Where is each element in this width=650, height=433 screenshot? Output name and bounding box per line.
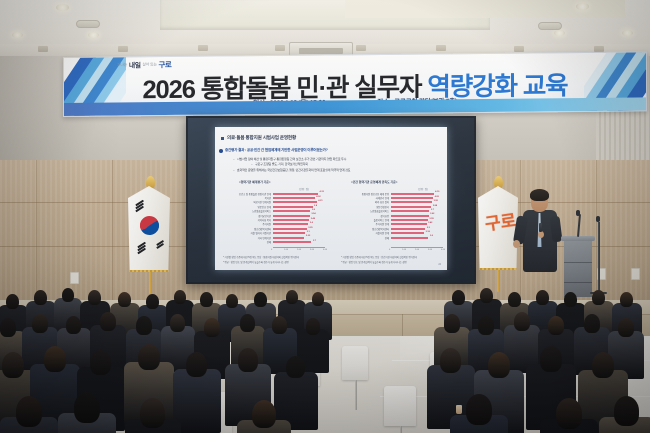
- bar-value: 3.25: [308, 227, 312, 229]
- slide-page-number: 24: [438, 263, 441, 266]
- bar-row: 장기요양3.62: [391, 214, 443, 217]
- bar-label: 주거지원 연계: [376, 222, 389, 226]
- panel-right-unit: (단위 : 점): [418, 187, 428, 191]
- bar-row: 자활·일자리 지원기관3.1: [273, 232, 325, 235]
- slide-bullet: 효과적인 운영을 위해서는 국민건강보험공단, 행정, 민간기관들과의 연계 포…: [237, 168, 350, 172]
- slide-bullet: 구로구 조정팀 별도, 기획, 한국보거산적립자회: [255, 162, 308, 166]
- axis-tick: 3.00: [428, 249, 432, 251]
- mic-stand-head: [596, 216, 600, 222]
- auditorium-photo: 기나는 내일 살아 있는 구로 2026 통합돌봄 민·관 실무자 역량강화 교…: [0, 0, 650, 433]
- bar-row: 사례관리 연계4.05: [391, 196, 443, 199]
- bar-value: 3.95: [434, 200, 438, 202]
- ceiling-downlight: [554, 30, 565, 36]
- bar-row: 기타 연계기관3.02: [273, 236, 325, 239]
- audience-hair: [466, 394, 492, 425]
- audience-hair: [272, 316, 287, 334]
- bar-label: 보건소 및 통합돌봄 행정기관 연계: [239, 192, 271, 196]
- audience-hair: [138, 344, 160, 370]
- bar-row: 의료기관 연계지원4.21: [273, 201, 325, 204]
- audience-hair: [34, 290, 47, 305]
- audience-hair: [74, 392, 100, 423]
- ceiling-spot: [275, 45, 285, 51]
- bar-value: 3.02: [306, 235, 310, 237]
- bar-value: 3.7: [431, 209, 434, 211]
- audience-hair: [252, 400, 276, 428]
- bar-label: 정신건강복지센터: [372, 227, 389, 231]
- bar-value: 3.18: [426, 231, 430, 233]
- logo-text-pre2: 살아 있는: [142, 62, 156, 68]
- bar-fill: [273, 193, 318, 195]
- bar-value: 3.1: [307, 231, 310, 233]
- audience-hair: [536, 290, 549, 305]
- bar-fill: [391, 215, 429, 217]
- coffee-cup: [456, 405, 462, 414]
- audience-hair: [488, 352, 510, 378]
- bar-label: 정신건강복지센터: [254, 227, 271, 231]
- bar-row: 의뢰·회송 절차3.95: [391, 201, 443, 204]
- audience-hair: [478, 316, 494, 335]
- bar-value: 4.05: [435, 196, 439, 198]
- ceiling: [0, 0, 650, 56]
- stage-seam: [402, 314, 403, 336]
- bar-value: 3.62: [430, 213, 434, 215]
- bar-value: 3.7: [313, 240, 316, 242]
- bar-fill: [273, 228, 307, 230]
- bar-label: 돌봄서비스 연계: [374, 218, 389, 222]
- audience-hair: [16, 396, 42, 427]
- bar-row: 노인맞춤돌봄서비스3.6: [273, 210, 325, 213]
- audience-hair: [508, 292, 521, 307]
- bar-fill: [391, 201, 432, 203]
- gooseneck-mic-head: [576, 210, 580, 216]
- panel-left-footnote: * 평균 : 협업 빈도 및 연계실적이 높을수록 점수가 높게 나타나는 경향: [223, 260, 289, 264]
- bar-fill: [391, 228, 425, 230]
- presentation-slide: 의료·돌봄 통합지원 시범사업 운영현황 중간평가 결과 : 공공·민간 간 협…: [215, 127, 447, 270]
- bar-fill: [391, 210, 429, 212]
- bar-label: 전체: [385, 236, 389, 240]
- bar-value: 3.6: [430, 235, 433, 237]
- bar-fill: [273, 237, 304, 239]
- audience-hair: [240, 314, 255, 332]
- lectern-seam: [564, 262, 592, 263]
- audience-hair: [118, 292, 131, 307]
- audience-hair: [306, 318, 320, 335]
- audience-hair: [6, 294, 19, 309]
- audience-hair: [88, 290, 101, 305]
- bar-label: 노인맞춤돌봄서비스: [370, 209, 389, 213]
- bar-row: 주거지원3.4: [273, 223, 325, 226]
- chair-leg: [400, 426, 402, 433]
- bar-row: 자활지원 연계3.18: [391, 232, 443, 235]
- bar-label: 장기요양: [381, 214, 389, 218]
- wood-seam: [112, 160, 113, 300]
- audience-hair: [186, 352, 207, 377]
- bar-value: 4.10: [435, 191, 439, 193]
- bar-fill: [391, 237, 428, 239]
- chair: [342, 346, 368, 380]
- audience-hair: [44, 346, 66, 372]
- event-banner: 기나는 내일 살아 있는 구로 2026 통합돌봄 민·관 실무자 역량강화 교…: [63, 51, 647, 117]
- audience-hair: [170, 314, 185, 332]
- bar-fill: [273, 210, 310, 212]
- panel-left-footnote: * 기관별 협업 수준에 대한 5점 척도 응답 : 통합지원 대상자의 실질적…: [223, 255, 299, 259]
- bar-value: 3.88: [433, 205, 437, 207]
- bar-row: 방문간호 연계3.8: [273, 205, 325, 208]
- bar-label: 사례관리 연계: [376, 196, 389, 200]
- bar-value: 3.8: [314, 205, 317, 207]
- bar-value: 3.42: [428, 222, 432, 224]
- audience-hair: [238, 348, 258, 372]
- bar-row: 전체3.6: [391, 236, 443, 239]
- axis-tick: 1.00: [284, 249, 288, 251]
- bar-fill: [391, 223, 427, 225]
- audience-hair: [146, 294, 159, 309]
- axis-tick: 2.00: [415, 249, 419, 251]
- axis-tick: 4.00: [441, 249, 445, 251]
- audience-hair: [174, 290, 186, 304]
- bar-value: 4.21: [318, 200, 322, 202]
- audience-hair: [286, 356, 305, 378]
- axis-tick: 1.00: [402, 249, 406, 251]
- bar-row: 주거지원 연계3.42: [391, 223, 443, 226]
- audience-hair: [452, 290, 465, 305]
- bar-label: 기타 연계기관: [258, 236, 271, 240]
- bar-label: 자활지원 연계: [376, 231, 389, 235]
- ceiling-downlight: [622, 30, 633, 36]
- audience-hair: [564, 292, 577, 307]
- bar-fill: [391, 197, 433, 199]
- chair-leg: [355, 380, 357, 410]
- bar-row: 지역사회 복지3.48: [273, 218, 325, 221]
- flag-cloth: [128, 186, 170, 272]
- axis-tick: 2.00: [297, 249, 301, 251]
- bar-label: 자활·일자리 지원기관: [251, 231, 271, 235]
- panel-left-caption: <협력기관 체계평가 기준>: [239, 180, 271, 184]
- bar-label: 통합지원 정보공유 체계 운영: [362, 192, 389, 196]
- presenter-hand-right: [538, 231, 544, 238]
- handheld-microphone: [539, 223, 542, 232]
- bar-row: 정신건강복지센터3.25: [273, 227, 325, 230]
- audience-hair: [90, 350, 111, 375]
- bar-value: 3.6: [312, 209, 315, 211]
- bar-row: 정신건강복지센터3.3: [391, 227, 443, 230]
- panel-right-footnote: * 기관별 협업 수준에 대한 5점 척도 응답 : 민간기관 대상자의 실질적…: [341, 255, 417, 259]
- logo-text-pre1: 기나는: [117, 62, 127, 68]
- bar-label: 복지관: [265, 196, 271, 200]
- slide-bullet: 시범사업 참여 예산 및 통합지원구·통합판정팀 간의 보건소·추가 관련 기관…: [237, 157, 346, 161]
- bar-label: 노인맞춤돌봄서비스: [252, 209, 271, 213]
- bar-value: 4.02: [316, 196, 320, 198]
- audience-hair: [312, 292, 324, 306]
- bar-fill: [391, 193, 434, 195]
- audience-hair: [440, 348, 461, 373]
- ceiling-vent: [538, 22, 562, 30]
- audience-hair: [200, 292, 213, 307]
- audience-hair: [614, 396, 639, 426]
- panel-right-axis: [391, 247, 443, 248]
- presenter-hand-left: [513, 240, 520, 248]
- bar-fill: [273, 201, 317, 203]
- audience-hair: [204, 318, 220, 337]
- panel-right-footnote: * 평균 : 협업 빈도 및 연계실적이 높을수록 점수가 높게 나타나는 경향: [341, 260, 407, 264]
- audience-hair: [2, 352, 24, 378]
- audience-hair: [100, 312, 116, 331]
- axis-tick: 4.00: [323, 249, 327, 251]
- audience-hair: [556, 398, 582, 429]
- bar-row: 복지관4.02: [273, 196, 325, 199]
- bar-row: 노인맞춤돌봄서비스3.7: [391, 210, 443, 213]
- bar-fill: [273, 197, 315, 199]
- wall-outlet: [70, 272, 79, 284]
- audience-hair: [592, 290, 605, 305]
- wall-outlet: [631, 268, 640, 280]
- bar-label: 지역사회 복지: [258, 218, 271, 222]
- ceiling-coffer: [160, 0, 490, 30]
- axis-tick: 3.00: [310, 249, 314, 251]
- audience-hair: [480, 288, 493, 303]
- presenter-hair: [530, 189, 549, 201]
- lectern-body: [564, 241, 592, 297]
- audience-hair: [0, 318, 16, 337]
- audience-hair: [620, 292, 633, 307]
- bar-row: 통합지원 정보공유 체계 운영4.10: [391, 192, 443, 195]
- ceiling-spot: [514, 46, 524, 52]
- wood-seam: [36, 160, 37, 300]
- bar-row: 돌봄서비스 연계3.55: [391, 218, 443, 221]
- bar-row: 보건소 및 통합돌봄 행정기관 연계4.33: [273, 192, 325, 195]
- ceiling-downlight: [12, 32, 23, 38]
- audience-hair: [584, 314, 600, 333]
- bar-label: 장기요양기관: [258, 214, 271, 218]
- audience-hair: [254, 292, 267, 307]
- audience-hair: [136, 316, 152, 335]
- bar-fill: [391, 206, 431, 208]
- bar-fill: [273, 219, 309, 221]
- panel-left-unit: (단위 : 점): [299, 187, 309, 191]
- lectern-seam: [564, 282, 592, 283]
- bar-row: 방문건강관리3.88: [391, 205, 443, 208]
- bar-label: 방문건강관리: [376, 205, 389, 209]
- ceiling-spot: [38, 46, 48, 52]
- bar-fill: [273, 206, 313, 208]
- bar-fill: [273, 223, 308, 225]
- bar-label: 전체: [267, 240, 271, 244]
- audience-hair: [514, 312, 530, 331]
- projection-screen: 의료·돌봄 통합지원 시범사업 운영현황 중간평가 결과 : 공공·민간 간 협…: [186, 116, 476, 284]
- audience-hair: [618, 318, 634, 337]
- bar-value: 3.55: [429, 218, 433, 220]
- ceiling-spot: [198, 45, 208, 51]
- audience-hair: [540, 346, 562, 372]
- audience-hair: [548, 316, 564, 335]
- audience-hair: [66, 316, 81, 334]
- bar-row: 장기요양기관3.54: [273, 214, 325, 217]
- taeguk-symbol: [136, 212, 162, 238]
- audience-hair: [32, 314, 48, 333]
- ceiling-spot: [436, 45, 446, 51]
- audience-hair: [592, 352, 614, 378]
- bar-label: 주거지원: [263, 222, 271, 226]
- bar-label: 방문간호 연계: [258, 205, 271, 209]
- bar-value: 3.54: [311, 213, 315, 215]
- audience-hair: [62, 288, 74, 302]
- bar-row: 전체3.7: [273, 240, 325, 243]
- mic-stand-pole: [598, 222, 600, 294]
- bar-value: 3.48: [311, 218, 315, 220]
- bar-fill: [273, 215, 310, 217]
- guro-emblem: 구로: [484, 212, 517, 233]
- bar-label: 의뢰·회송 절차: [375, 200, 389, 204]
- bar-value: 3.4: [310, 222, 313, 224]
- audience-hair: [140, 398, 165, 428]
- bar-fill: [391, 232, 424, 234]
- slide-title: 의료·돌봄 통합지원 시범사업 운영현황: [227, 135, 296, 141]
- ceiling-downlight: [56, 4, 69, 11]
- audience-hair: [286, 290, 298, 304]
- ceiling-downlight: [576, 3, 589, 10]
- ceiling-downlight: [88, 32, 99, 38]
- bar-value: 4.33: [320, 191, 324, 193]
- panel-left-axis: [273, 247, 325, 248]
- audience-hair: [444, 314, 460, 333]
- audience-hair: [226, 294, 238, 308]
- bar-fill: [273, 232, 305, 234]
- axis-tick: 0: [271, 249, 272, 251]
- bar-fill: [391, 219, 428, 221]
- chair: [384, 386, 416, 426]
- bar-value: 3.3: [427, 227, 430, 229]
- bar-label: 의료기관 연계지원: [253, 200, 271, 204]
- slide-question: 중간평가 결과 : 공공·민간 간 협업체계에 기반한 사업운영이 이루어졌는가…: [225, 148, 328, 153]
- axis-tick: 0: [389, 249, 390, 251]
- ceiling-spot: [356, 45, 366, 51]
- ceiling-spot: [118, 46, 128, 52]
- ceiling-vent: [76, 20, 100, 28]
- panel-right-caption: <민간 협력기관 운영체계 만족도 기준>: [351, 180, 397, 184]
- flag-cloth: 구로: [478, 186, 518, 270]
- bar-fill: [273, 241, 311, 243]
